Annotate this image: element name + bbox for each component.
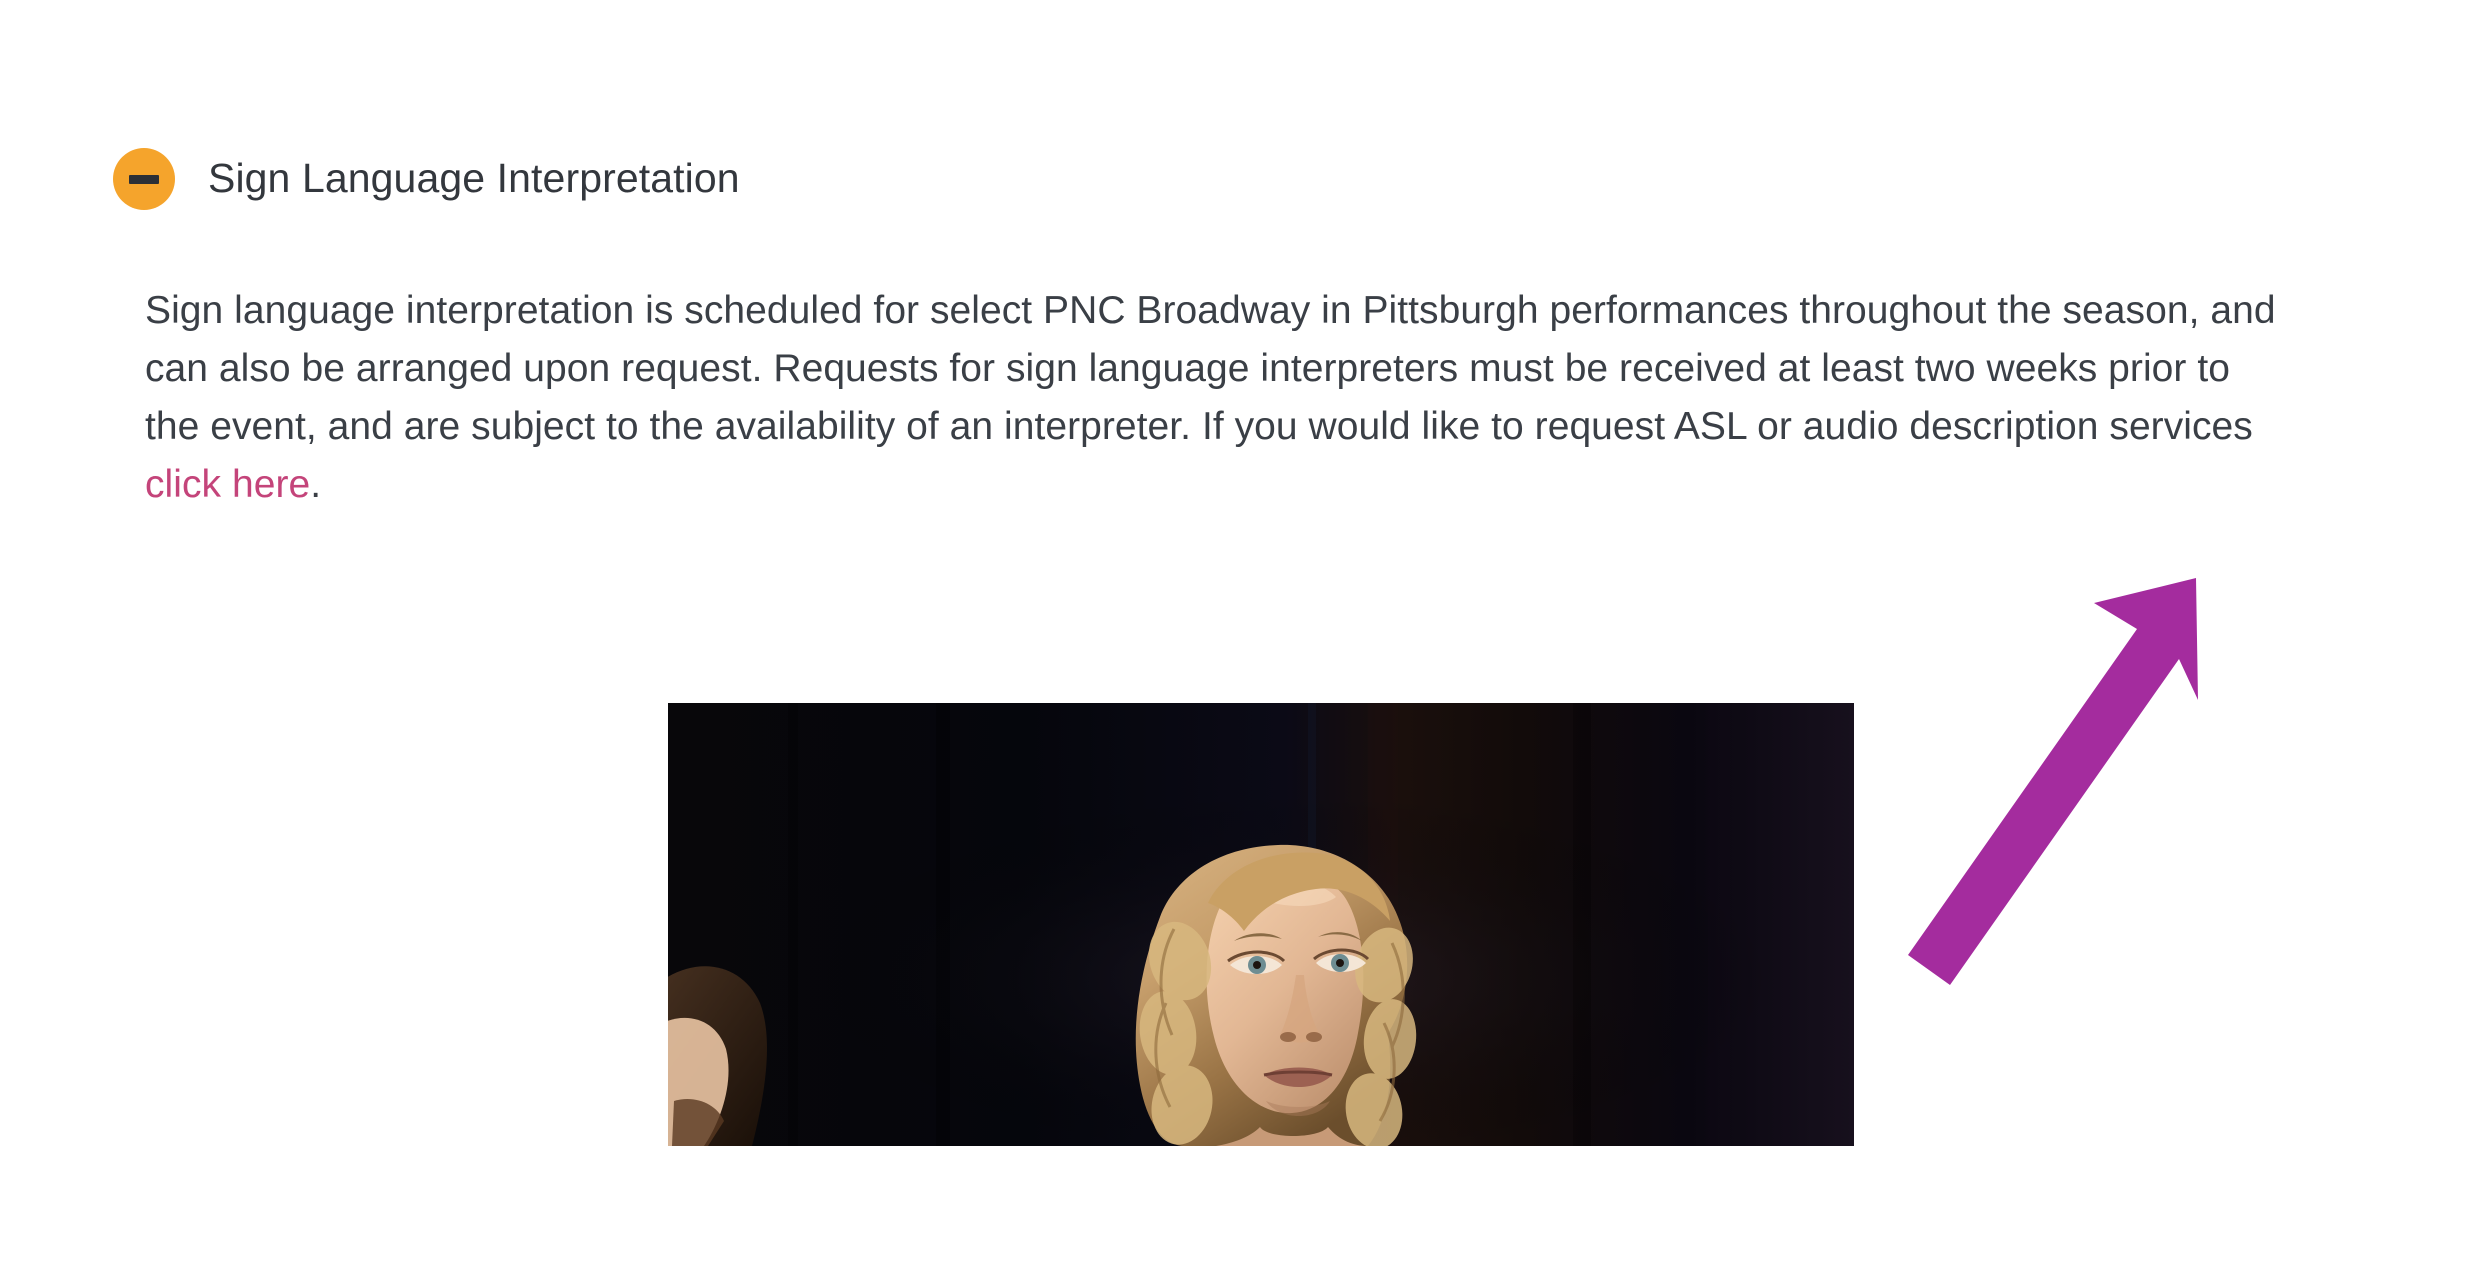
click-here-link[interactable]: click here [145,463,310,506]
interpreter-photo [668,703,1854,1146]
photo-image [668,703,1854,1146]
photo-secondary-person [668,966,767,1146]
paragraph-text-after-link: . [310,463,321,506]
accordion-panel-body: Sign language interpretation is schedule… [145,282,2295,514]
accordion-title: Sign Language Interpretation [208,156,740,201]
panel-paragraph: Sign language interpretation is schedule… [145,282,2295,514]
page-root: Sign Language Interpretation Sign langua… [0,0,2482,1264]
accordion-header-sign-language-interpretation[interactable]: Sign Language Interpretation [113,148,740,210]
minus-circle-icon[interactable] [113,148,175,210]
minus-glyph [129,175,159,184]
paragraph-text-before-link: Sign language interpretation is schedule… [145,289,2276,448]
annotation-arrow-icon [1880,545,2220,995]
photo-main-subject [1134,845,1421,1146]
